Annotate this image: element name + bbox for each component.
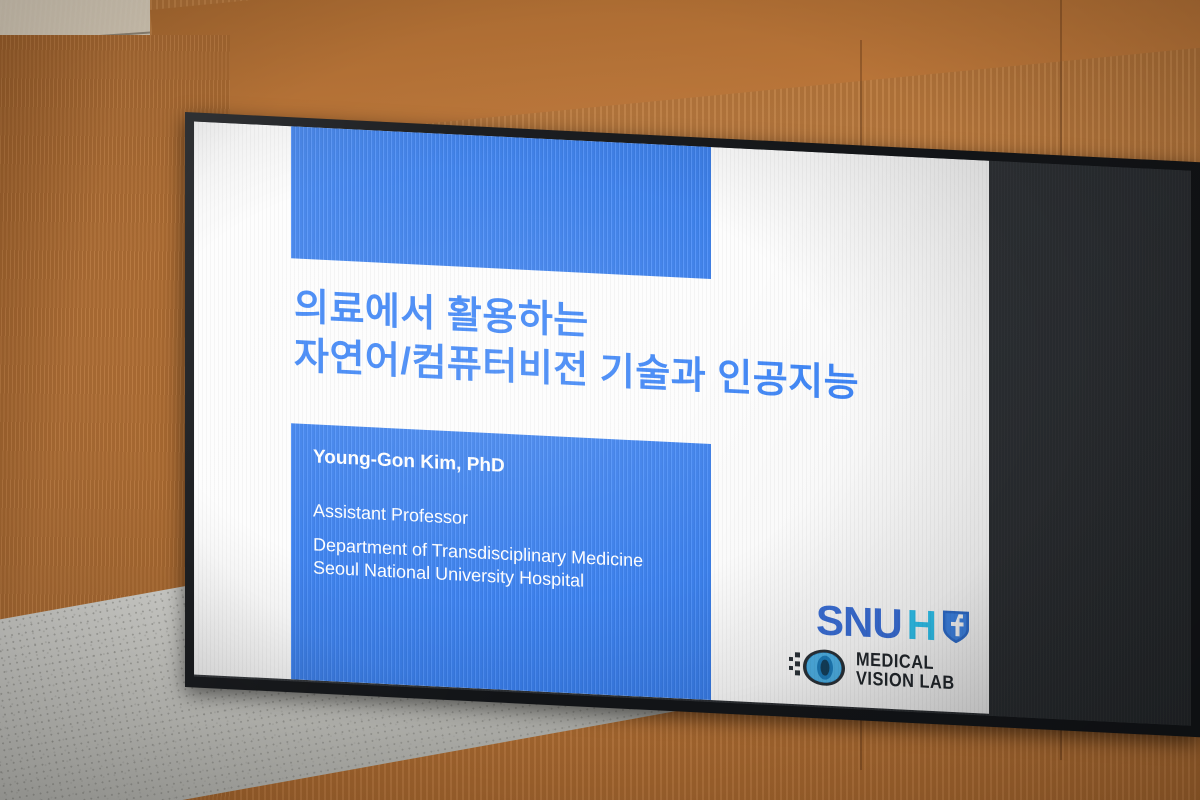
snuh-wordmark-secondary: H (907, 604, 936, 647)
screen-surface: 의료에서 활용하는 자연어/컴퓨터비전 기술과 인공지능 Young-Gon K… (194, 121, 1191, 725)
projection-screen[interactable]: 의료에서 활용하는 자연어/컴퓨터비전 기술과 인공지능 Young-Gon K… (185, 112, 1200, 737)
mvl-line-2: VISION LAB (856, 669, 955, 693)
presenter-name: Young-Gon Kim, PhD (313, 446, 711, 488)
presenter-affiliation: Department of Transdisciplinary Medicine… (313, 533, 711, 598)
pixelated-eye-icon (789, 646, 847, 689)
slide-logos: SNU H (741, 596, 971, 695)
presenter-info-block: Young-Gon Kim, PhD Assistant Professor D… (291, 423, 711, 700)
snuh-wordmark-primary: SNU (816, 599, 902, 645)
snuh-shield-icon (941, 608, 971, 645)
slide-title: 의료에서 활용하는 자연어/컴퓨터비전 기술과 인공지능 (294, 283, 954, 414)
snuh-logo: SNU H (741, 596, 971, 649)
medical-vision-lab-text: MEDICAL VISION LAB (856, 650, 955, 694)
decorative-top-bar (291, 121, 711, 279)
medical-vision-lab-logo: MEDICAL VISION LAB (741, 644, 971, 695)
lecture-hall-photo: 의료에서 활용하는 자연어/컴퓨터비전 기술과 인공지능 Young-Gon K… (0, 0, 1200, 800)
presenter-role: Assistant Professor (313, 500, 711, 541)
projected-slide: 의료에서 활용하는 자연어/컴퓨터비전 기술과 인공지능 Young-Gon K… (194, 121, 989, 713)
